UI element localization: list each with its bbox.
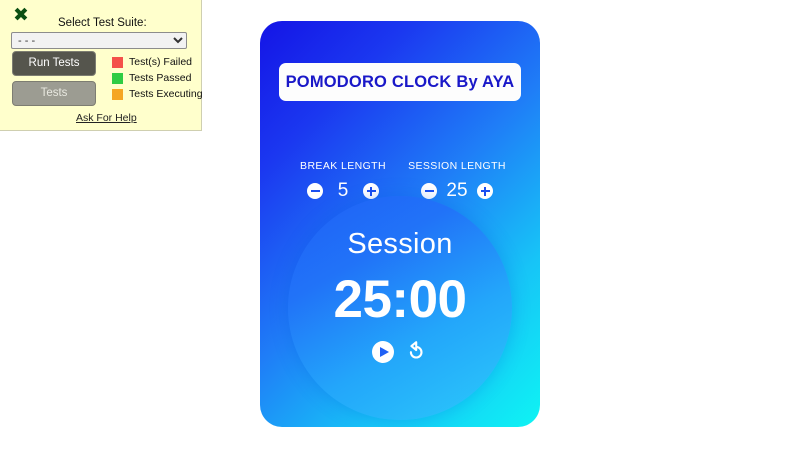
session-increment-icon[interactable] [477,183,493,199]
ask-for-help-link[interactable]: Ask For Help [76,112,137,124]
legend-swatch-executing [112,89,123,100]
timer-circle: Session 25:00 [288,196,512,420]
break-increment-icon[interactable] [363,183,379,199]
select-test-suite-label: Select Test Suite: [58,17,147,29]
pomodoro-clock-card: POMODORO CLOCK By AYA BREAK LENGTH 5 SES… [260,21,540,427]
play-icon[interactable] [372,341,394,363]
reset-icon[interactable] [404,340,428,364]
break-decrement-icon[interactable] [307,183,323,199]
run-tests-button[interactable]: Run Tests [12,51,96,76]
legend-label-failed: Test(s) Failed [129,56,192,68]
legend-label-passed: Tests Passed [129,72,191,84]
break-length-group: BREAK LENGTH 5 [288,160,398,202]
legend-swatch-failed [112,57,123,68]
close-icon[interactable]: ✖ [11,5,31,25]
timer-buttons [372,340,428,364]
session-length-value: 25 [446,180,468,202]
break-label: BREAK LENGTH [288,160,398,172]
time-left: 25:00 [333,273,466,326]
break-length-value: 5 [332,180,354,202]
session-decrement-icon[interactable] [421,183,437,199]
legend-item-executing: Tests Executing [112,88,203,100]
legend-item-failed: Test(s) Failed [112,56,192,68]
page-title: POMODORO CLOCK By AYA [286,73,515,92]
legend-swatch-passed [112,73,123,84]
legend-label-executing: Tests Executing [129,88,203,100]
timer-label: Session [347,228,452,261]
legend-item-passed: Tests Passed [112,72,191,84]
tests-button[interactable]: Tests [12,81,96,106]
test-suite-select[interactable]: - - - [11,32,187,49]
session-label: SESSION LENGTH [402,160,512,172]
session-length-group: SESSION LENGTH 25 [402,160,512,202]
test-suite-panel: ✖ Select Test Suite: - - - Run Tests Tes… [0,0,202,131]
clock-title-box: POMODORO CLOCK By AYA [279,63,521,101]
